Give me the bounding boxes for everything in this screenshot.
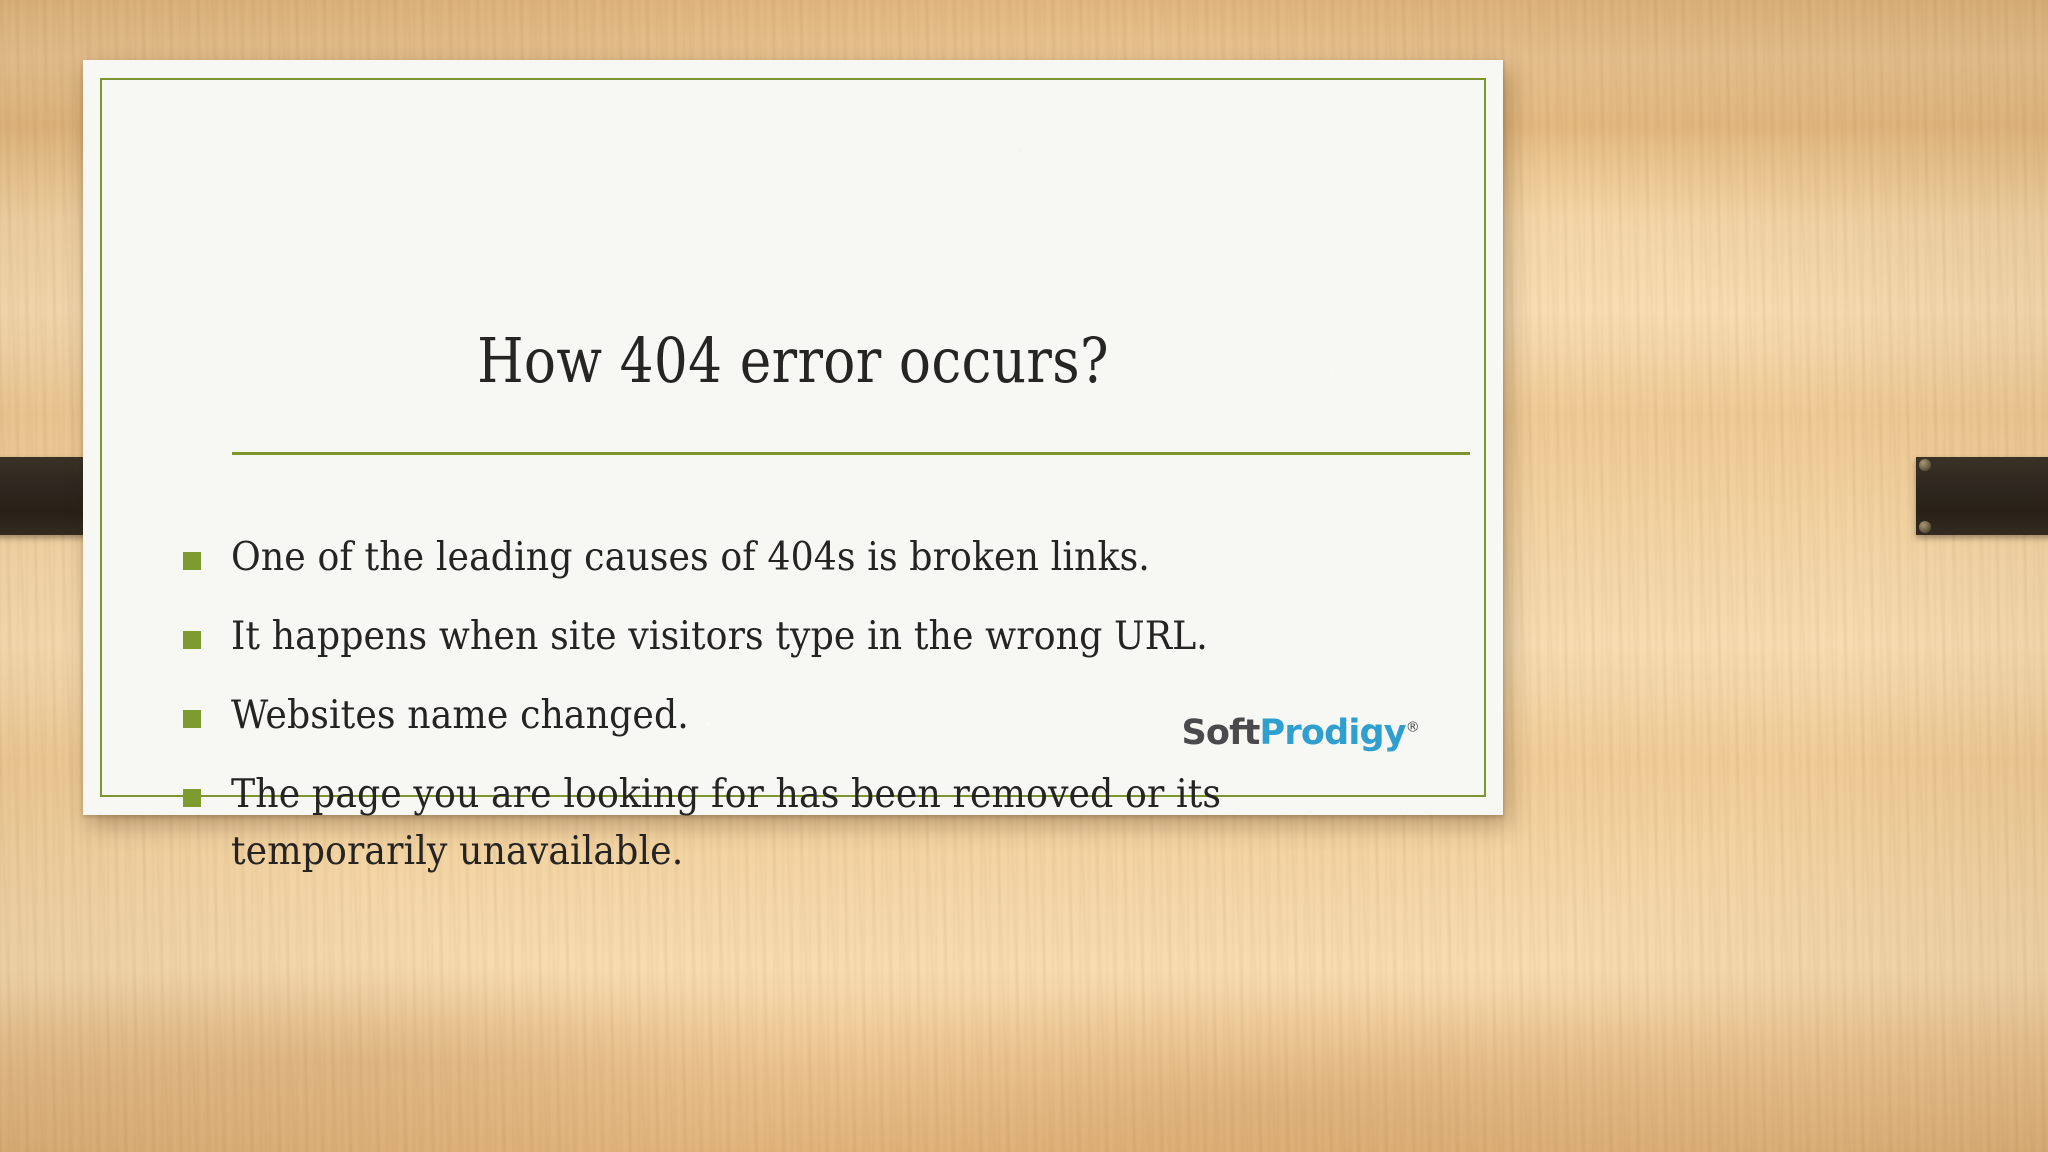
logo-text-prodigy: Prodigy [1260,713,1406,753]
list-item-text: Websites name changed. [231,688,1340,744]
bullet-square-icon [183,710,201,728]
list-item-text: It happens when site visitors type in th… [231,609,1340,665]
bolt-icon [1919,521,1931,533]
list-item-text: One of the leading causes of 404s is bro… [231,530,1340,586]
list-item: The page you are looking for has been re… [183,767,1423,879]
bolt-icon [1919,459,1931,471]
logo-text-soft: Soft [1182,713,1260,753]
list-item: One of the leading causes of 404s is bro… [183,530,1423,586]
bullet-square-icon [183,789,201,807]
list-item-text: The page you are looking for has been re… [231,767,1340,879]
slide-card: How 404 error occurs? One of the leading… [83,60,1503,815]
list-item: It happens when site visitors type in th… [183,609,1423,665]
registered-trademark-icon: ® [1406,719,1419,735]
bullet-square-icon [183,631,201,649]
bullet-square-icon [183,552,201,570]
title-divider-rule [232,452,1470,455]
softprodigy-logo: SoftProdigy® [1182,716,1420,751]
slide-stage: How 404 error occurs? One of the leading… [0,0,2048,1152]
right-clamp-bar [1916,457,2048,535]
page-title: How 404 error occurs? [182,327,1403,395]
